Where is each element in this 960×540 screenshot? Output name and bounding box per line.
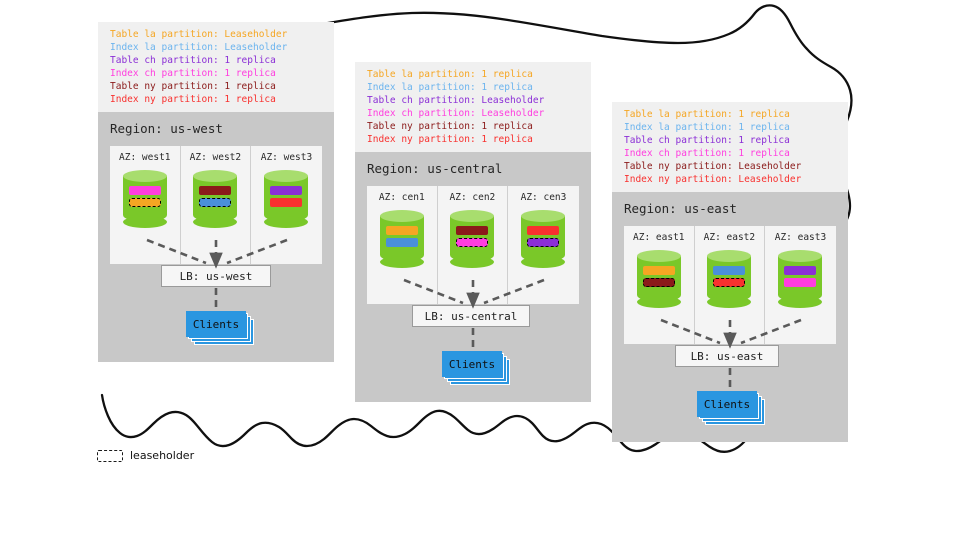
info-line: Index la partition: 1 replica	[624, 121, 836, 134]
database-cylinder	[637, 250, 681, 308]
info-line: Index la partition: 1 replica	[367, 81, 579, 94]
az-card-east2[interactable]: AZ: east2	[695, 226, 766, 344]
info-line: Table ch partition: 1 replica	[110, 54, 322, 67]
clients-stack-us-central[interactable]: Clients	[442, 351, 512, 385]
info-line: Table la partition: Leaseholder	[110, 28, 322, 41]
region-title-us-west: Region: us-west	[110, 121, 223, 136]
legend-label: leaseholder	[130, 449, 194, 462]
info-line: Index ny partition: Leaseholder	[624, 173, 836, 186]
az-card-west3[interactable]: AZ: west3	[251, 146, 322, 264]
replica-band-leaseholder	[456, 238, 488, 247]
load-balancer-us-west[interactable]: LB: us-west	[161, 265, 271, 287]
replica-band-leaseholder	[527, 238, 559, 247]
clients-stack-us-east[interactable]: Clients	[697, 391, 767, 425]
info-line: Index ny partition: 1 replica	[110, 93, 322, 106]
database-cylinder	[123, 170, 167, 228]
info-line: Index ch partition: 1 replica	[624, 147, 836, 160]
replica-band	[527, 226, 559, 235]
replica-band-leaseholder	[129, 198, 161, 207]
info-line: Index la partition: Leaseholder	[110, 41, 322, 54]
az-card-cen1[interactable]: AZ: cen1	[367, 186, 438, 304]
load-balancer-us-central[interactable]: LB: us-central	[412, 305, 530, 327]
replica-band-leaseholder	[713, 278, 745, 287]
az-row-us-east: AZ: east1 AZ: east2 AZ: east3	[624, 226, 836, 344]
az-label: AZ: cen2	[450, 192, 496, 203]
az-label: AZ: west2	[190, 152, 241, 163]
az-label: AZ: west1	[119, 152, 170, 163]
diagram-canvas: Table la partition: Leaseholder Index la…	[0, 0, 960, 540]
clients-label: Clients	[697, 391, 757, 417]
az-card-east3[interactable]: AZ: east3	[765, 226, 836, 344]
info-line: Table la partition: 1 replica	[367, 68, 579, 81]
az-label: AZ: east3	[775, 232, 826, 243]
database-cylinder	[521, 210, 565, 268]
az-card-west2[interactable]: AZ: west2	[181, 146, 252, 264]
legend: leaseholder	[97, 449, 194, 462]
az-card-cen3[interactable]: AZ: cen3	[508, 186, 579, 304]
replica-band	[270, 198, 302, 207]
replica-band	[784, 278, 816, 287]
leaseholder-swatch-icon	[97, 450, 123, 462]
info-line: Table ch partition: Leaseholder	[367, 94, 579, 107]
info-line: Table la partition: 1 replica	[624, 108, 836, 121]
database-cylinder	[264, 170, 308, 228]
clients-stack-us-west[interactable]: Clients	[186, 311, 256, 345]
database-cylinder	[193, 170, 237, 228]
load-balancer-us-east[interactable]: LB: us-east	[675, 345, 779, 367]
replica-band	[129, 186, 161, 195]
info-line: Table ny partition: Leaseholder	[624, 160, 836, 173]
region-info-us-central: Table la partition: 1 replica Index la p…	[355, 62, 591, 152]
az-label: AZ: west3	[261, 152, 312, 163]
region-info-us-west: Table la partition: Leaseholder Index la…	[98, 22, 334, 112]
az-label: AZ: cen1	[379, 192, 425, 203]
replica-band	[199, 186, 231, 195]
az-label: AZ: east1	[633, 232, 684, 243]
clients-label: Clients	[442, 351, 502, 377]
info-line: Table ny partition: 1 replica	[110, 80, 322, 93]
az-card-east1[interactable]: AZ: east1	[624, 226, 695, 344]
database-cylinder	[707, 250, 751, 308]
clients-label: Clients	[186, 311, 246, 337]
az-row-us-west: AZ: west1 AZ: west2 AZ: west3	[110, 146, 322, 264]
replica-band-leaseholder	[643, 278, 675, 287]
region-title-us-central: Region: us-central	[367, 161, 502, 176]
replica-band	[784, 266, 816, 275]
replica-band	[456, 226, 488, 235]
region-info-us-east: Table la partition: 1 replica Index la p…	[612, 102, 848, 192]
az-row-us-central: AZ: cen1 AZ: cen2 AZ: cen3	[367, 186, 579, 304]
replica-band	[386, 238, 418, 247]
replica-band	[270, 186, 302, 195]
info-line: Table ch partition: 1 replica	[624, 134, 836, 147]
replica-band	[386, 226, 418, 235]
az-card-west1[interactable]: AZ: west1	[110, 146, 181, 264]
info-line: Table ny partition: 1 replica	[367, 120, 579, 133]
replica-band	[643, 266, 675, 275]
database-cylinder	[380, 210, 424, 268]
database-cylinder	[450, 210, 494, 268]
info-line: Index ny partition: 1 replica	[367, 133, 579, 146]
az-label: AZ: cen3	[521, 192, 567, 203]
region-title-us-east: Region: us-east	[624, 201, 737, 216]
info-line: Index ch partition: 1 replica	[110, 67, 322, 80]
az-card-cen2[interactable]: AZ: cen2	[438, 186, 509, 304]
replica-band-leaseholder	[199, 198, 231, 207]
replica-band	[713, 266, 745, 275]
info-line: Index ch partition: Leaseholder	[367, 107, 579, 120]
az-label: AZ: east2	[704, 232, 755, 243]
database-cylinder	[778, 250, 822, 308]
